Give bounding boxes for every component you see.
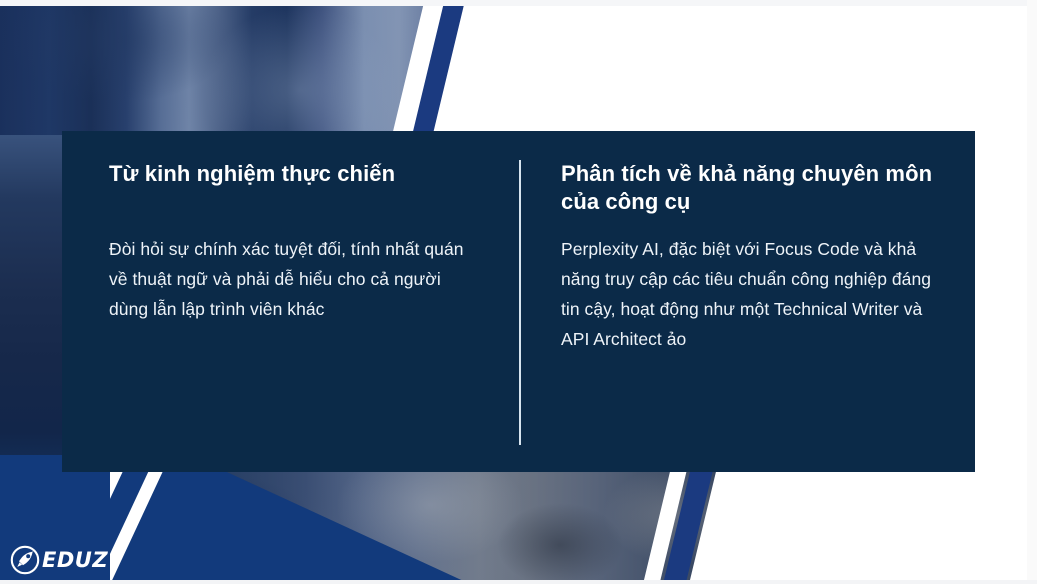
slide-canvas: Từ kinh nghiệm thực chiến Đòi hỏi sự chí… — [0, 0, 1037, 584]
decorative-diagonal-stripes-bottom-left — [110, 455, 370, 584]
brand-logo: EDUZ — [10, 545, 108, 575]
content-column-left: Từ kinh nghiệm thực chiến Đòi hỏi sự chí… — [62, 131, 520, 472]
decorative-diagonal-stripes-top — [392, 0, 632, 140]
brand-logo-text: EDUZ — [42, 550, 108, 571]
column-right-heading: Phân tích về khả năng chuyên môn của côn… — [561, 160, 945, 216]
decorative-diagonal-stripes-bottom — [552, 455, 872, 584]
frame-margin-bottom — [0, 580, 1037, 584]
column-right-body: Perplexity AI, đặc biệt với Focus Code v… — [561, 234, 945, 354]
column-left-body: Đòi hỏi sự chính xác tuyệt đối, tính nhấ… — [109, 234, 480, 324]
rocket-in-circle-icon — [10, 545, 40, 575]
frame-margin-top — [0, 0, 1037, 6]
column-left-heading: Từ kinh nghiệm thực chiến — [109, 160, 480, 188]
content-card: Từ kinh nghiệm thực chiến Đòi hỏi sự chí… — [62, 131, 975, 472]
frame-margin-right — [1027, 0, 1037, 584]
content-column-right: Phân tích về khả năng chuyên môn của côn… — [520, 131, 975, 472]
column-divider — [519, 160, 521, 445]
